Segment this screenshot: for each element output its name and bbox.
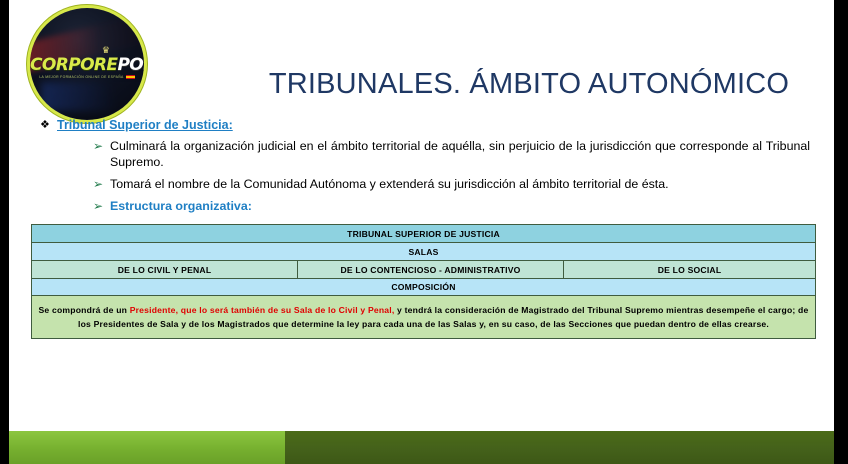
- list-item-label: Culminará la organización judicial en el…: [110, 138, 810, 170]
- list-item-label: Tomará el nombre de la Comunidad Autónom…: [110, 176, 810, 192]
- logo-tagline-text: LA MEJOR FORMACIÓN ONLINE DE ESPAÑA: [39, 75, 123, 79]
- logo-word-right: POL: [117, 55, 144, 75]
- table-row: Se compondrá de un Presidente, que lo se…: [32, 296, 816, 339]
- table-row: SALAS: [32, 243, 816, 261]
- logo-glow-blue: [41, 82, 144, 111]
- salas-label-cell: SALAS: [32, 243, 816, 261]
- list-item: ➢ Estructura organizativa:: [93, 198, 830, 214]
- logo-wordmark: CORPOREPOL: [30, 57, 144, 74]
- arrow-bullet-icon: ➢: [93, 198, 110, 214]
- list-item-label: Estructura organizativa:: [110, 198, 810, 214]
- list-item: ➢ Tomará el nombre de la Comunidad Autón…: [93, 176, 830, 192]
- sala-cell-social: DE LO SOCIAL: [564, 261, 816, 279]
- sala-cell-contencioso: DE LO CONTENCIOSO - ADMINISTRATIVO: [298, 261, 564, 279]
- arrow-bullet-icon: ➢: [93, 176, 110, 192]
- footer-bar: [9, 431, 834, 464]
- list-item: ➢ Culminará la organización judicial en …: [93, 138, 830, 170]
- table-row: COMPOSICIÓN: [32, 279, 816, 296]
- slide-canvas: ♛ CORPOREPOL LA MEJOR FORMACIÓN ONLINE D…: [9, 0, 834, 464]
- footer-bar-left: [9, 431, 285, 464]
- bullet-level1-label: Tribunal Superior de Justicia:: [57, 118, 233, 133]
- table-row: TRIBUNAL SUPERIOR DE JUSTICIA: [32, 225, 816, 243]
- composicion-part1: Se compondrá de un: [39, 305, 130, 315]
- bullet-list: ❖ Tribunal Superior de Justicia: ➢ Culmi…: [40, 118, 830, 220]
- table-header-cell: TRIBUNAL SUPERIOR DE JUSTICIA: [32, 225, 816, 243]
- logo-tagline: LA MEJOR FORMACIÓN ONLINE DE ESPAÑA: [30, 75, 144, 79]
- table-row: DE LO CIVIL Y PENAL DE LO CONTENCIOSO - …: [32, 261, 816, 279]
- composicion-label-cell: COMPOSICIÓN: [32, 279, 816, 296]
- spain-flag-icon: [126, 75, 135, 79]
- composicion-body-cell: Se compondrá de un Presidente, que lo se…: [32, 296, 816, 339]
- slide-frame: ♛ CORPOREPOL LA MEJOR FORMACIÓN ONLINE D…: [0, 0, 848, 464]
- corporepol-logo: ♛ CORPOREPOL LA MEJOR FORMACIÓN ONLINE D…: [30, 8, 144, 120]
- logo-word-left: CORPORE: [30, 55, 117, 75]
- arrow-bullet-icon: ➢: [93, 138, 110, 154]
- bullet-level1: ❖ Tribunal Superior de Justicia:: [40, 118, 830, 133]
- structure-table: TRIBUNAL SUPERIOR DE JUSTICIA SALAS DE L…: [31, 224, 816, 339]
- diamond-bullet-icon: ❖: [40, 118, 57, 133]
- page-title: TRIBUNALES. ÁMBITO AUTONÓMICO: [234, 68, 824, 101]
- footer-bar-right: [285, 431, 834, 464]
- composicion-highlight: Presidente, que lo será también de su Sa…: [130, 305, 395, 315]
- sala-cell-civil-penal: DE LO CIVIL Y PENAL: [32, 261, 298, 279]
